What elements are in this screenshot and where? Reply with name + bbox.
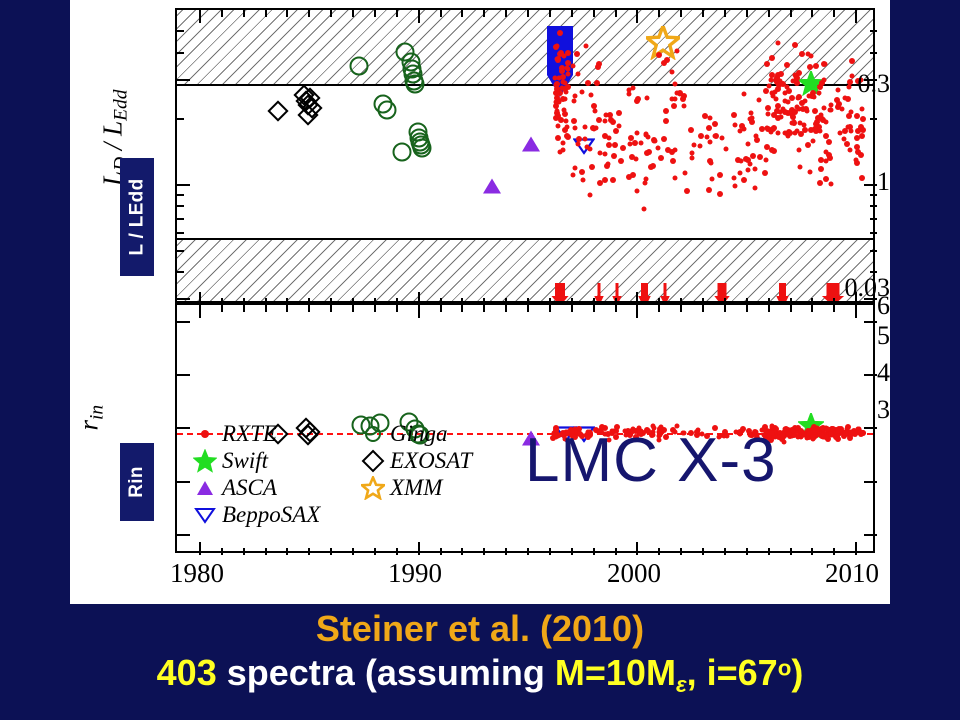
rxte-marker	[651, 137, 657, 143]
rxte-marker	[803, 106, 809, 112]
luminosity-plot-area	[177, 10, 873, 301]
rxte-marker	[613, 128, 619, 134]
axis-tick	[870, 250, 877, 252]
rxte-marker	[766, 111, 771, 116]
legend-item-ginga: Ginga	[356, 420, 472, 447]
rxte-marker	[812, 108, 818, 114]
rxte-marker	[635, 96, 641, 102]
rxte-marker	[757, 154, 763, 160]
rxte-marker	[566, 71, 571, 76]
axis-tick	[864, 481, 877, 483]
rxte-marker	[860, 107, 865, 112]
rxte-marker	[697, 144, 702, 149]
rxte-marker	[771, 112, 777, 118]
rxte-marker-rin	[780, 433, 786, 439]
legend-item-xmm: XMM	[356, 474, 472, 501]
rxte-marker	[673, 82, 678, 87]
axis-tick	[265, 305, 267, 312]
axis-tick	[243, 10, 245, 17]
rin-overlay-label: Rin	[120, 443, 154, 521]
rxte-marker	[720, 136, 725, 141]
axis-tick	[870, 232, 877, 234]
rxte-marker	[764, 126, 769, 131]
rxte-marker	[583, 136, 588, 141]
excluded-band-low	[177, 238, 873, 301]
rxte-marker	[853, 158, 858, 163]
rxte-marker	[774, 75, 780, 81]
axis-tick	[352, 305, 354, 312]
ytick-label-1: 1	[790, 167, 890, 197]
caption-mass-subscript: ε	[676, 672, 687, 697]
caption-mid: spectra (assuming	[227, 652, 545, 693]
axis-tick	[396, 10, 398, 17]
rxte-marker	[572, 99, 577, 104]
axis-tick	[461, 305, 463, 312]
rxte-marker	[814, 119, 820, 125]
axis-tick	[593, 548, 595, 555]
rxte-marker	[602, 177, 608, 183]
rxte-marker	[775, 103, 781, 109]
rxte-marker	[741, 92, 746, 97]
rxte-marker	[564, 133, 570, 139]
rxte-marker	[673, 176, 678, 181]
rxte-marker	[747, 117, 752, 122]
rxte-marker	[724, 146, 729, 151]
axis-tick	[790, 548, 792, 555]
rxte-marker	[564, 124, 569, 129]
axis-tick	[221, 548, 223, 555]
axis-tick	[483, 305, 485, 312]
rxte-marker	[572, 165, 577, 170]
axis-tick	[461, 548, 463, 555]
rxte-marker	[644, 150, 650, 156]
rxte-marker	[745, 157, 751, 163]
rxte-marker	[602, 118, 607, 123]
axis-tick	[265, 548, 267, 555]
rxte-marker	[602, 152, 607, 157]
rxte-marker	[741, 177, 747, 183]
caption-citation: Steiner et al. (2010)	[0, 608, 960, 650]
rxte-marker-rin	[835, 428, 841, 434]
rxte-marker	[773, 97, 778, 102]
open-down-triangle-icon	[188, 506, 222, 524]
axis-tick	[658, 10, 660, 17]
legend-item-rxte: RXTE	[188, 420, 320, 447]
axis-tick	[330, 10, 332, 17]
rxte-marker	[707, 139, 712, 144]
rxte-marker	[554, 99, 559, 104]
rxte-marker	[690, 156, 695, 161]
xtick-label-3: 2010	[825, 558, 879, 589]
rxte-marker	[675, 48, 680, 53]
rxte-marker	[705, 134, 710, 139]
rin-axis-title: rin	[73, 383, 108, 453]
axis-tick	[418, 10, 420, 23]
axis-tick	[177, 205, 184, 207]
rxte-marker	[846, 113, 852, 119]
axis-tick	[746, 10, 748, 17]
axis-tick	[440, 548, 442, 555]
rxte-marker	[767, 83, 772, 88]
legend-label-exosat: EXOSAT	[390, 448, 472, 474]
rxte-marker-rin	[783, 426, 789, 432]
axis-tick	[636, 10, 638, 23]
rxte-marker	[812, 126, 818, 132]
rxte-marker	[559, 65, 565, 71]
axis-tick	[483, 10, 485, 17]
axis-tick	[396, 548, 398, 555]
rxte-marker	[808, 54, 813, 59]
ginga-marker	[349, 56, 368, 75]
axis-tick	[177, 321, 190, 323]
rxte-marker	[769, 55, 775, 61]
axis-tick	[330, 548, 332, 555]
rxte-marker	[762, 170, 768, 176]
rxte-marker	[745, 168, 750, 173]
axis-tick	[549, 305, 551, 312]
axis-tick	[286, 305, 288, 312]
rxte-marker-rin	[810, 434, 816, 440]
axis-tick	[440, 305, 442, 312]
rxte-marker-rin	[820, 433, 825, 438]
axis-tick	[308, 305, 310, 312]
axis-tick	[833, 548, 835, 555]
rxte-marker	[763, 88, 769, 94]
axis-tick	[571, 305, 573, 312]
legend-item-bepposax: BeppoSAX	[188, 501, 320, 528]
rxte-marker	[579, 169, 585, 175]
rxte-marker	[594, 80, 600, 86]
rxte-marker	[746, 142, 751, 147]
legend-label-bepposax: BeppoSAX	[222, 502, 320, 528]
axis-tick	[418, 542, 420, 555]
axis-tick	[680, 10, 682, 17]
rin-ytick-label-0: 6	[790, 291, 890, 321]
axis-tick	[177, 250, 184, 252]
rxte-marker	[585, 80, 591, 86]
rxte-marker	[829, 108, 834, 113]
axis-tick	[855, 542, 857, 555]
caption-count: 403	[157, 652, 217, 693]
rxte-marker	[797, 147, 802, 152]
axis-tick	[527, 10, 529, 17]
axis-tick	[636, 542, 638, 555]
rin-ytick-label-3: 3	[790, 395, 890, 425]
rxte-marker	[590, 125, 596, 131]
rxte-marker	[717, 172, 723, 178]
axis-tick	[243, 305, 245, 312]
rxte-marker	[860, 116, 866, 122]
rxte-marker	[855, 149, 861, 155]
ledd-overlay-text: L / LEdd	[126, 179, 148, 256]
rxte-marker	[764, 158, 769, 163]
axis-tick	[330, 305, 332, 312]
rxte-marker	[574, 51, 580, 57]
legend-column-left: RXTE Swift ASCA	[188, 420, 320, 528]
rxte-marker	[603, 112, 608, 117]
axis-tick	[199, 542, 201, 555]
asca-marker	[522, 136, 540, 151]
rxte-marker	[612, 142, 618, 148]
axis-tick	[352, 548, 354, 555]
axis-tick	[702, 10, 704, 17]
axis-tick	[505, 305, 507, 312]
axis-tick	[199, 10, 201, 23]
axis-tick	[286, 548, 288, 555]
rxte-marker	[732, 176, 737, 181]
axis-tick	[768, 10, 770, 17]
rxte-marker	[661, 60, 667, 66]
axis-tick	[746, 305, 748, 312]
axis-tick	[418, 305, 420, 318]
rxte-marker	[733, 123, 738, 128]
rxte-marker	[847, 148, 852, 153]
axis-tick	[615, 305, 617, 312]
axis-tick	[593, 10, 595, 17]
axis-tick	[571, 548, 573, 555]
rxte-marker	[764, 144, 770, 150]
rxte-marker	[570, 64, 575, 69]
rxte-marker	[692, 142, 697, 147]
axis-tick	[177, 118, 184, 120]
upper-limit-arrow	[612, 283, 622, 301]
rxte-marker	[780, 81, 786, 87]
rxte-marker	[627, 141, 632, 146]
axis-tick	[680, 548, 682, 555]
rxte-marker	[739, 123, 745, 129]
rxte-marker	[560, 96, 566, 102]
rxte-marker	[681, 103, 686, 108]
rxte-marker	[753, 186, 758, 191]
rxte-marker	[560, 140, 565, 145]
rxte-marker	[737, 170, 742, 175]
axis-tick	[505, 10, 507, 17]
rxte-marker	[641, 206, 646, 211]
axis-tick	[308, 548, 310, 555]
axis-tick	[177, 534, 190, 536]
legend-item-exosat: EXOSAT	[356, 447, 472, 474]
rxte-marker	[826, 152, 832, 158]
rxte-marker	[805, 142, 811, 148]
rxte-marker	[643, 181, 648, 186]
rxte-marker	[673, 97, 678, 102]
rxte-marker	[813, 63, 819, 69]
upper-limit-arrow	[551, 283, 569, 301]
rxte-marker	[620, 145, 626, 151]
rin-overlay-text: Rin	[126, 466, 148, 498]
rxte-marker	[775, 41, 780, 46]
rxte-marker	[713, 133, 719, 139]
rxte-marker	[675, 91, 680, 96]
axis-tick	[724, 548, 726, 555]
axis-tick	[724, 10, 726, 17]
rxte-marker	[589, 164, 595, 170]
rxte-marker	[706, 125, 712, 131]
rxte-marker	[824, 120, 829, 125]
rxte-marker	[829, 103, 834, 108]
axis-tick	[658, 305, 660, 312]
caption-mass: M=10M	[555, 652, 676, 693]
axis-tick	[811, 548, 813, 555]
rxte-marker	[803, 98, 808, 103]
rxte-marker	[669, 70, 674, 75]
axis-tick	[177, 374, 190, 376]
upper-limit-arrow	[660, 283, 670, 301]
rxte-marker	[688, 127, 694, 133]
axis-tick	[549, 548, 551, 555]
rxte-marker	[595, 64, 601, 70]
rxte-marker	[670, 158, 676, 164]
rxte-marker	[757, 98, 762, 103]
axis-tick	[864, 427, 877, 429]
rxte-marker	[582, 124, 587, 129]
filled-star-icon	[188, 449, 222, 473]
axis-tick	[286, 10, 288, 17]
axis-tick	[702, 548, 704, 555]
axis-tick	[440, 10, 442, 17]
rxte-marker	[684, 188, 690, 194]
rxte-marker	[753, 166, 758, 171]
open-diamond-icon	[356, 449, 390, 473]
caption-details: 403 spectra (assuming M=10Mε, i=67o)	[0, 652, 960, 698]
xtick-label-1: 1990	[388, 558, 442, 589]
rxte-marker	[770, 126, 776, 132]
axis-tick	[177, 79, 190, 81]
rxte-marker	[648, 164, 654, 170]
axis-tick	[724, 305, 726, 312]
rxte-marker	[627, 91, 632, 96]
rxte-marker	[553, 44, 559, 50]
rxte-marker	[731, 112, 737, 118]
rxte-marker	[784, 62, 790, 68]
legend-label-asca: ASCA	[222, 475, 277, 501]
rxte-marker	[644, 96, 649, 101]
legend-column-right: Ginga EXOSAT XMM	[356, 420, 472, 501]
rxte-marker	[663, 108, 669, 114]
axis-tick	[768, 548, 770, 555]
rxte-marker	[792, 120, 797, 125]
rxte-marker	[644, 132, 649, 137]
rxte-marker	[581, 177, 586, 182]
xmm-marker	[646, 26, 680, 60]
axis-tick	[768, 305, 770, 312]
axis-tick	[265, 10, 267, 17]
rxte-marker	[554, 57, 559, 62]
legend-label-rxte: RXTE	[222, 421, 277, 447]
rxte-marker	[588, 93, 593, 98]
filled-triangle-icon	[188, 479, 222, 497]
rxte-marker	[844, 141, 850, 147]
axis-tick	[833, 10, 835, 17]
asca-marker	[483, 178, 501, 193]
rxte-marker	[656, 52, 662, 58]
rxte-marker	[706, 187, 712, 193]
rxte-marker	[638, 141, 643, 146]
exosat-marker	[267, 100, 288, 121]
upper-limit-arrow	[594, 283, 604, 301]
axis-tick	[636, 305, 638, 318]
rxte-marker	[575, 141, 580, 146]
rxte-marker	[689, 151, 694, 156]
rxte-marker	[555, 113, 561, 119]
axis-tick	[374, 10, 376, 17]
rxte-marker	[780, 107, 785, 112]
legend-item-asca: ASCA	[188, 474, 320, 501]
rxte-marker-rin	[848, 430, 853, 435]
caption-close-paren: )	[791, 652, 803, 693]
rxte-marker	[839, 107, 844, 112]
rxte-marker	[822, 105, 827, 110]
legend-label-ginga: Ginga	[390, 421, 448, 447]
rxte-marker	[792, 42, 798, 48]
rxte-marker	[584, 144, 589, 149]
rxte-marker	[792, 130, 797, 135]
axis-tick	[177, 52, 184, 54]
rxte-marker	[634, 130, 639, 135]
rxte-marker	[859, 133, 865, 139]
axis-tick	[870, 118, 877, 120]
rxte-marker	[661, 136, 667, 142]
axis-tick	[615, 10, 617, 17]
rxte-marker	[717, 191, 723, 197]
legend-label-xmm: XMM	[390, 475, 442, 501]
rxte-marker	[593, 108, 598, 113]
open-star-icon	[356, 476, 390, 500]
rxte-marker	[801, 122, 806, 127]
axis-tick	[221, 305, 223, 312]
axis-tick	[352, 10, 354, 17]
rxte-marker	[588, 192, 593, 197]
axis-tick	[746, 548, 748, 555]
axis-tick	[177, 232, 184, 234]
rxte-marker	[855, 128, 861, 134]
rxte-marker-rin	[781, 439, 786, 444]
rxte-marker	[682, 171, 687, 176]
ginga-marker	[393, 142, 412, 161]
axis-tick	[658, 548, 660, 555]
rxte-marker	[775, 130, 780, 135]
ledd-overlay-label: L / LEdd	[120, 158, 154, 276]
legend-item-swift: Swift	[188, 447, 320, 474]
rxte-marker	[580, 90, 585, 95]
rxte-marker	[765, 105, 771, 111]
rxte-marker-rin	[798, 428, 804, 434]
rxte-marker	[605, 162, 610, 167]
rxte-marker	[571, 118, 577, 124]
rxte-marker-rin	[860, 430, 866, 436]
axis-tick	[870, 30, 877, 32]
rxte-marker	[799, 51, 805, 57]
rxte-marker	[823, 158, 828, 163]
ginga-marker	[413, 139, 432, 158]
rxte-marker	[707, 158, 713, 164]
rxte-marker	[826, 139, 832, 145]
filled-circle-icon	[188, 427, 222, 441]
axis-tick	[790, 10, 792, 17]
rxte-marker	[798, 131, 804, 137]
rxte-marker	[570, 172, 575, 177]
xtick-label-2: 2000	[607, 558, 661, 589]
rxte-marker	[555, 135, 561, 141]
rxte-marker	[618, 158, 624, 164]
rxte-marker	[573, 125, 578, 130]
rxte-marker	[658, 155, 664, 161]
axis-tick	[483, 548, 485, 555]
axis-tick	[396, 305, 398, 312]
axis-tick	[870, 218, 877, 220]
open-circle-icon	[356, 424, 390, 444]
upper-limit-arrow	[779, 283, 789, 301]
